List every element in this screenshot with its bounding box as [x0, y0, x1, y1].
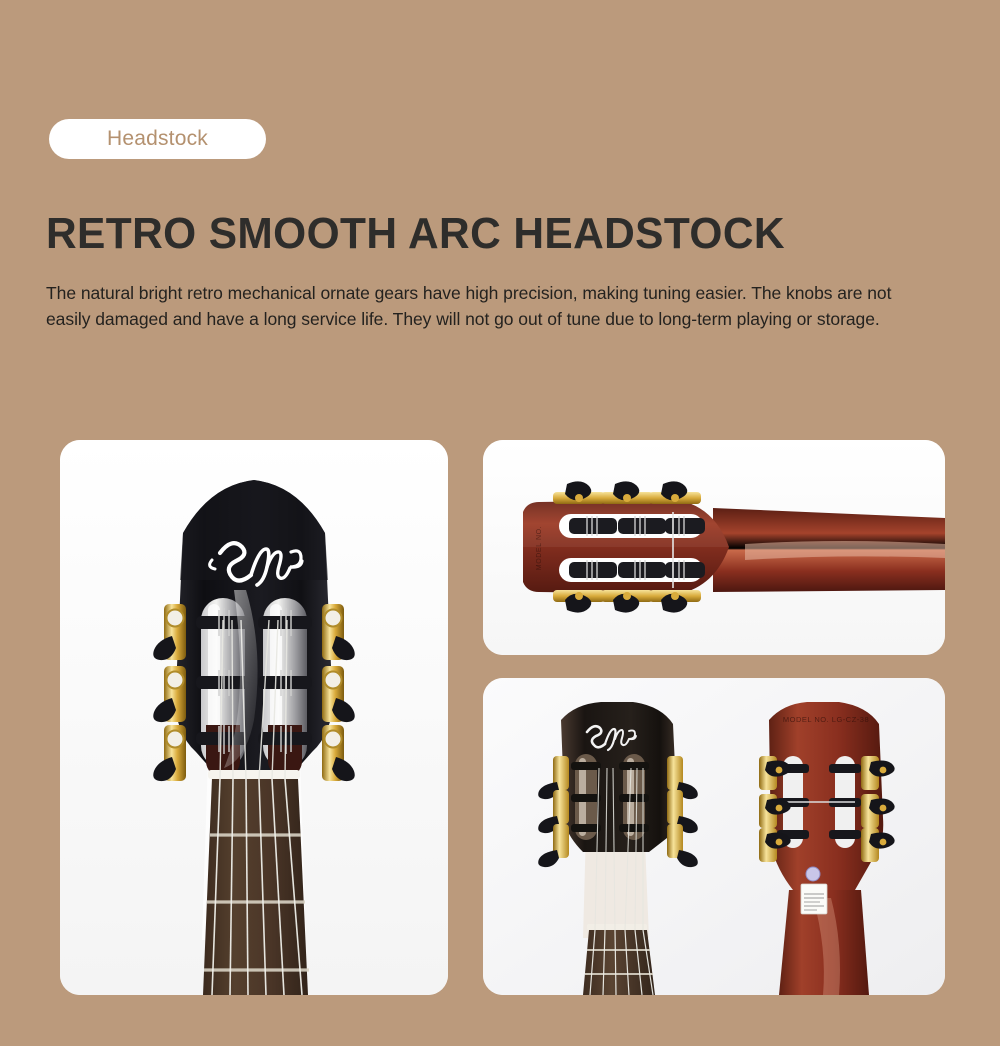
section-badge-label: Headstock — [107, 127, 208, 151]
tuner-plate-bottom-row — [553, 590, 701, 613]
model-number-stamp: MODEL NO. LG-CZ-38 — [783, 715, 869, 724]
section-badge: Headstock — [49, 119, 266, 159]
headstock-front-and-back-pair-photo: MODEL NO. LG-CZ-38 — [483, 678, 945, 995]
headstock-stamp-text: MODEL NO. — [536, 526, 543, 570]
headstock-front-and-back-pair-card: MODEL NO. LG-CZ-38 — [483, 678, 945, 995]
headstock-rear-neck-photo: MODEL NO. — [483, 440, 945, 655]
headstock-front-closeup-card — [60, 440, 448, 995]
headstock-front-closeup-photo — [60, 440, 448, 995]
paper-label — [801, 884, 827, 914]
round-sticker — [806, 867, 820, 881]
headstock-rear-neck-card: MODEL NO. — [483, 440, 945, 655]
page-description: The natural bright retro mechanical orna… — [46, 281, 904, 332]
page-title: RETRO SMOOTH ARC HEADSTOCK — [46, 209, 785, 259]
tuner-plate-top-row — [553, 481, 701, 504]
